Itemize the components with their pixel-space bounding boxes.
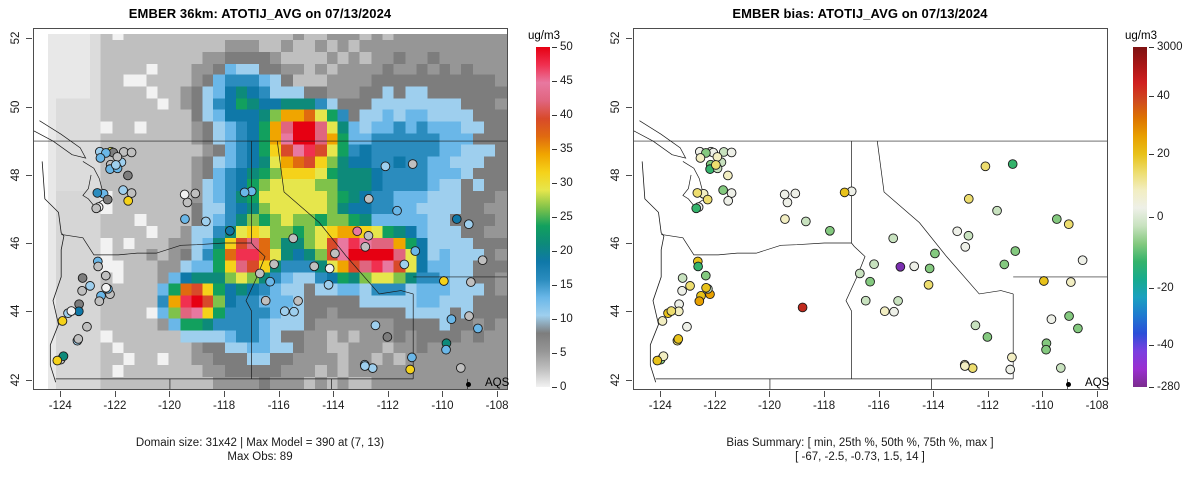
colorbar-tick bbox=[1149, 217, 1154, 218]
colorbar-tick bbox=[552, 319, 557, 320]
colorbar-tick bbox=[552, 387, 557, 388]
panel-model: EMBER 36km: ATOTIJ_AVG on 07/13/2024 -12… bbox=[0, 0, 600, 479]
colorbar-tick-label: 0 bbox=[1157, 211, 1163, 223]
colorbar-tick-label: 30 bbox=[560, 177, 573, 189]
colorbar-tick-label: -280 bbox=[1157, 381, 1180, 393]
colorbar-tick bbox=[552, 285, 557, 286]
colorbar-tick-label: 0 bbox=[560, 381, 566, 393]
colorbar-tick-label: 35 bbox=[560, 143, 573, 155]
colorbar-tick bbox=[552, 251, 557, 252]
bias-colorbar-title: ug/m3 bbox=[1125, 30, 1157, 42]
colorbar-tick-label: 40 bbox=[560, 109, 573, 121]
colorbar-tick-label: 40 bbox=[1157, 90, 1170, 102]
colorbar-tick bbox=[1149, 96, 1154, 97]
colorbar-tick-label: 20 bbox=[1157, 148, 1170, 160]
colorbar-tick bbox=[552, 81, 557, 82]
colorbar-tick-label: 3000 bbox=[1157, 41, 1183, 53]
colorbar-tick bbox=[552, 149, 557, 150]
colorbar-tick-label: 45 bbox=[560, 75, 573, 87]
colorbar-tick bbox=[1149, 47, 1154, 48]
panel-bias: EMBER bias: ATOTIJ_AVG on 07/13/2024 -12… bbox=[600, 0, 1200, 479]
colorbar-tick bbox=[552, 217, 557, 218]
colorbar-tick bbox=[552, 353, 557, 354]
colorbar-tick-label: 5 bbox=[560, 347, 566, 359]
colorbar-tick-label: -20 bbox=[1157, 282, 1174, 294]
colorbar-tick bbox=[552, 183, 557, 184]
colorbar-tick bbox=[1149, 345, 1154, 346]
colorbar-tick bbox=[1149, 288, 1154, 289]
bias-colorbar-gradient bbox=[1133, 47, 1147, 387]
colorbar-tick-label: 50 bbox=[560, 41, 573, 53]
colorbar-tick-label: 15 bbox=[560, 279, 573, 291]
colorbar-tick bbox=[1149, 387, 1154, 388]
model-colorbar: ug/m3 05101520253035404550 bbox=[0, 0, 600, 479]
bias-colorbar: ug/m3 -280-40-20020403000 bbox=[600, 0, 1200, 479]
colorbar-tick bbox=[1149, 154, 1154, 155]
colorbar-tick-label: 25 bbox=[560, 211, 573, 223]
colorbar-tick-label: -40 bbox=[1157, 339, 1174, 351]
colorbar-tick bbox=[552, 47, 557, 48]
figure-root: EMBER 36km: ATOTIJ_AVG on 07/13/2024 -12… bbox=[0, 0, 1200, 479]
colorbar-tick-label: 20 bbox=[560, 245, 573, 257]
colorbar-tick-label: 10 bbox=[560, 313, 573, 325]
model-colorbar-title: ug/m3 bbox=[528, 30, 560, 42]
model-colorbar-gradient bbox=[536, 47, 550, 387]
colorbar-tick bbox=[552, 115, 557, 116]
